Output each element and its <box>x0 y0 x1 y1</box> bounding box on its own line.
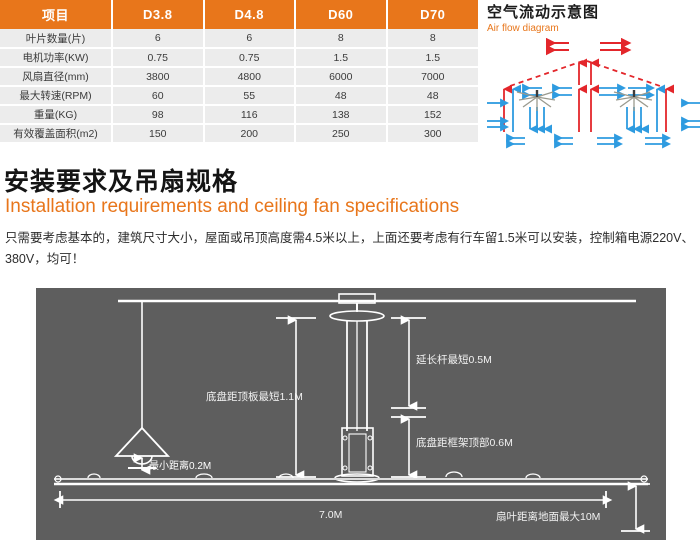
extension-rod-dimension: 延长杆最短0.5M <box>391 318 492 408</box>
cell-value: 6 <box>204 29 296 48</box>
cell-value: 3800 <box>112 67 204 86</box>
table-row: 电机功率(KW) 0.75 0.75 1.5 1.5 <box>0 48 478 67</box>
cell-value: 200 <box>204 124 296 143</box>
table-row: 重量(KG) 98 116 138 152 <box>0 105 478 124</box>
airflow-red-center-up <box>579 63 591 132</box>
blade-floor-label: 扇叶距离地面最大10M <box>496 510 600 523</box>
column-header-d3-8: D3.8 <box>112 0 204 29</box>
airflow-subtitle: Air flow diagram <box>487 22 700 35</box>
cell-value: 0.75 <box>112 48 204 67</box>
cell-value: 4800 <box>204 67 296 86</box>
row-label: 有效覆盖面积(m2) <box>0 124 112 143</box>
description-paragraph: 只需要考虑基本的，建筑尺寸大小，屋面或吊顶高度需4.5米以上，上面还要考虑有行车… <box>5 228 695 270</box>
fan-blades-right-icon <box>614 90 652 111</box>
blade-floor-dimension: 扇叶距离地面最大10M <box>496 484 650 531</box>
frame-top-dimension: 底盘距框架顶部0.6M <box>391 417 513 477</box>
column-header-d4-8: D4.8 <box>204 0 296 29</box>
cell-value: 1.5 <box>295 48 387 67</box>
cell-value: 138 <box>295 105 387 124</box>
airflow-diagram-svg <box>487 37 700 149</box>
drop-dimension: 底盘距顶板最短1.1M <box>206 318 316 477</box>
cell-value: 0.75 <box>204 48 296 67</box>
column-header-d70: D70 <box>387 0 479 29</box>
drop-dimension-label: 底盘距顶板最短1.1M <box>206 390 303 403</box>
cell-value: 6000 <box>295 67 387 86</box>
airflow-title: 空气流动示意图 <box>487 4 700 21</box>
column-header-item: 项目 <box>0 0 112 29</box>
cell-value: 48 <box>295 86 387 105</box>
row-label: 叶片数量(片) <box>0 29 112 48</box>
airflow-blue-floor-row <box>507 138 663 144</box>
row-label: 最大转速(RPM) <box>0 86 112 105</box>
airflow-red-top-arrows <box>547 43 622 50</box>
table-row: 最大转速(RPM) 60 55 48 48 <box>0 86 478 105</box>
installation-diagram-panel: 最小距离0.2M <box>36 288 666 540</box>
fan-mount-assembly <box>330 294 384 482</box>
cell-value: 8 <box>295 29 387 48</box>
page-root: 项目 D3.8 D4.8 D60 D70 叶片数量(片) 6 6 8 8 电机功… <box>0 0 700 552</box>
table-header-row: 项目 D3.8 D4.8 D60 D70 <box>0 0 478 29</box>
airflow-panel: 空气流动示意图 Air flow diagram <box>487 4 700 150</box>
cell-value: 250 <box>295 124 387 143</box>
table-row: 风扇直径(mm) 3800 4800 6000 7000 <box>0 67 478 86</box>
cell-value: 1.5 <box>387 48 479 67</box>
column-header-d60: D60 <box>295 0 387 29</box>
table-row: 有效覆盖面积(m2) 150 200 250 300 <box>0 124 478 143</box>
cell-value: 8 <box>387 29 479 48</box>
cell-value: 116 <box>204 105 296 124</box>
clearance-label: 最小距离0.2M <box>149 459 211 472</box>
frame-top-label: 底盘距框架顶部0.6M <box>416 436 513 449</box>
row-label: 风扇直径(mm) <box>0 67 112 86</box>
row-label: 重量(KG) <box>0 105 112 124</box>
cell-value: 150 <box>112 124 204 143</box>
page-subtitle: Installation requirements and ceiling fa… <box>5 196 459 218</box>
installation-diagram-svg: 最小距离0.2M <box>36 288 666 540</box>
cell-value: 48 <box>387 86 479 105</box>
table-row: 叶片数量(片) 6 6 8 8 <box>0 29 478 48</box>
airflow-red-diagonals <box>507 61 663 87</box>
cell-value: 152 <box>387 105 479 124</box>
span-label: 7.0M <box>319 509 342 521</box>
spec-table-container: 项目 D3.8 D4.8 D60 D70 叶片数量(片) 6 6 8 8 电机功… <box>0 0 478 144</box>
lamp-fixture <box>116 301 168 468</box>
spec-table: 项目 D3.8 D4.8 D60 D70 叶片数量(片) 6 6 8 8 电机功… <box>0 0 478 144</box>
airflow-blue-horizontal-in <box>487 103 700 127</box>
page-title: 安装要求及吊扇规格 <box>4 162 238 198</box>
row-label: 电机功率(KW) <box>0 48 112 67</box>
fan-blades-left-icon <box>517 90 555 111</box>
airflow-blue-upper-row <box>523 88 647 95</box>
cell-value: 7000 <box>387 67 479 86</box>
airflow-blue-downwash <box>530 107 641 129</box>
cell-value: 55 <box>204 86 296 105</box>
cell-value: 6 <box>112 29 204 48</box>
cell-value: 300 <box>387 124 479 143</box>
clearance-dimension: 最小距离0.2M <box>142 458 211 472</box>
cell-value: 60 <box>112 86 204 105</box>
extension-rod-label: 延长杆最短0.5M <box>416 353 492 366</box>
cell-value: 98 <box>112 105 204 124</box>
